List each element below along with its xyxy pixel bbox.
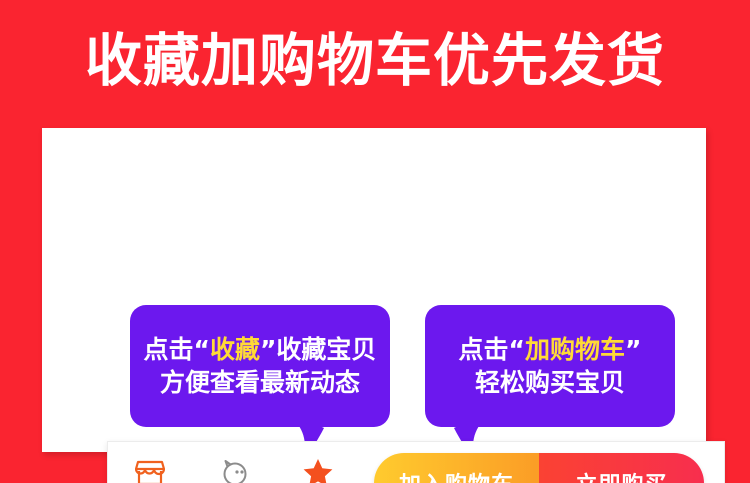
bubble-favorite-line1-post: ”收藏宝贝 xyxy=(260,335,376,364)
cta-pill: 加入购物车 立即购买 xyxy=(374,453,704,483)
shop-icon xyxy=(135,457,165,483)
action-item-customer-service[interactable]: 客服 xyxy=(192,441,276,483)
bubble-cart-line2: 轻松购买宝贝 xyxy=(475,366,625,399)
bubble-cart-line1-highlight: 加购物车 xyxy=(525,335,625,364)
add-to-cart-button[interactable]: 加入购物车 xyxy=(374,453,539,483)
bubble-cart: 点击“加购物车” 轻松购买宝贝 xyxy=(425,305,675,427)
promo-banner: 收藏加购物车优先发货 点击“收藏”收藏宝贝 方便查看最新动态 点击“加购物车” … xyxy=(0,0,750,483)
bubble-favorite-line1-highlight: 收藏 xyxy=(210,335,260,364)
bubble-cart-line1-post: ” xyxy=(625,335,641,364)
star-filled-icon xyxy=(302,457,334,483)
content-card: 点击“收藏”收藏宝贝 方便查看最新动态 点击“加购物车” 轻松购买宝贝 xyxy=(42,128,706,452)
customer-service-icon xyxy=(219,457,249,483)
action-item-shop[interactable]: 店铺 xyxy=(108,441,192,483)
page-title: 收藏加购物车优先发货 xyxy=(0,26,750,96)
bubble-cart-line1-pre: 点击“ xyxy=(459,335,525,364)
bubble-favorite-line2: 方便查看最新动态 xyxy=(160,366,360,399)
bubble-cart-line1: 点击“加购物车” xyxy=(459,333,642,366)
buy-now-button[interactable]: 立即购买 xyxy=(539,453,704,483)
bubble-favorite: 点击“收藏”收藏宝贝 方便查看最新动态 xyxy=(130,305,390,427)
bubble-favorite-line1-pre: 点击“ xyxy=(144,335,210,364)
action-item-favorited[interactable]: 已收藏 xyxy=(276,441,360,483)
bubble-favorite-line1: 点击“收藏”收藏宝贝 xyxy=(144,333,377,366)
